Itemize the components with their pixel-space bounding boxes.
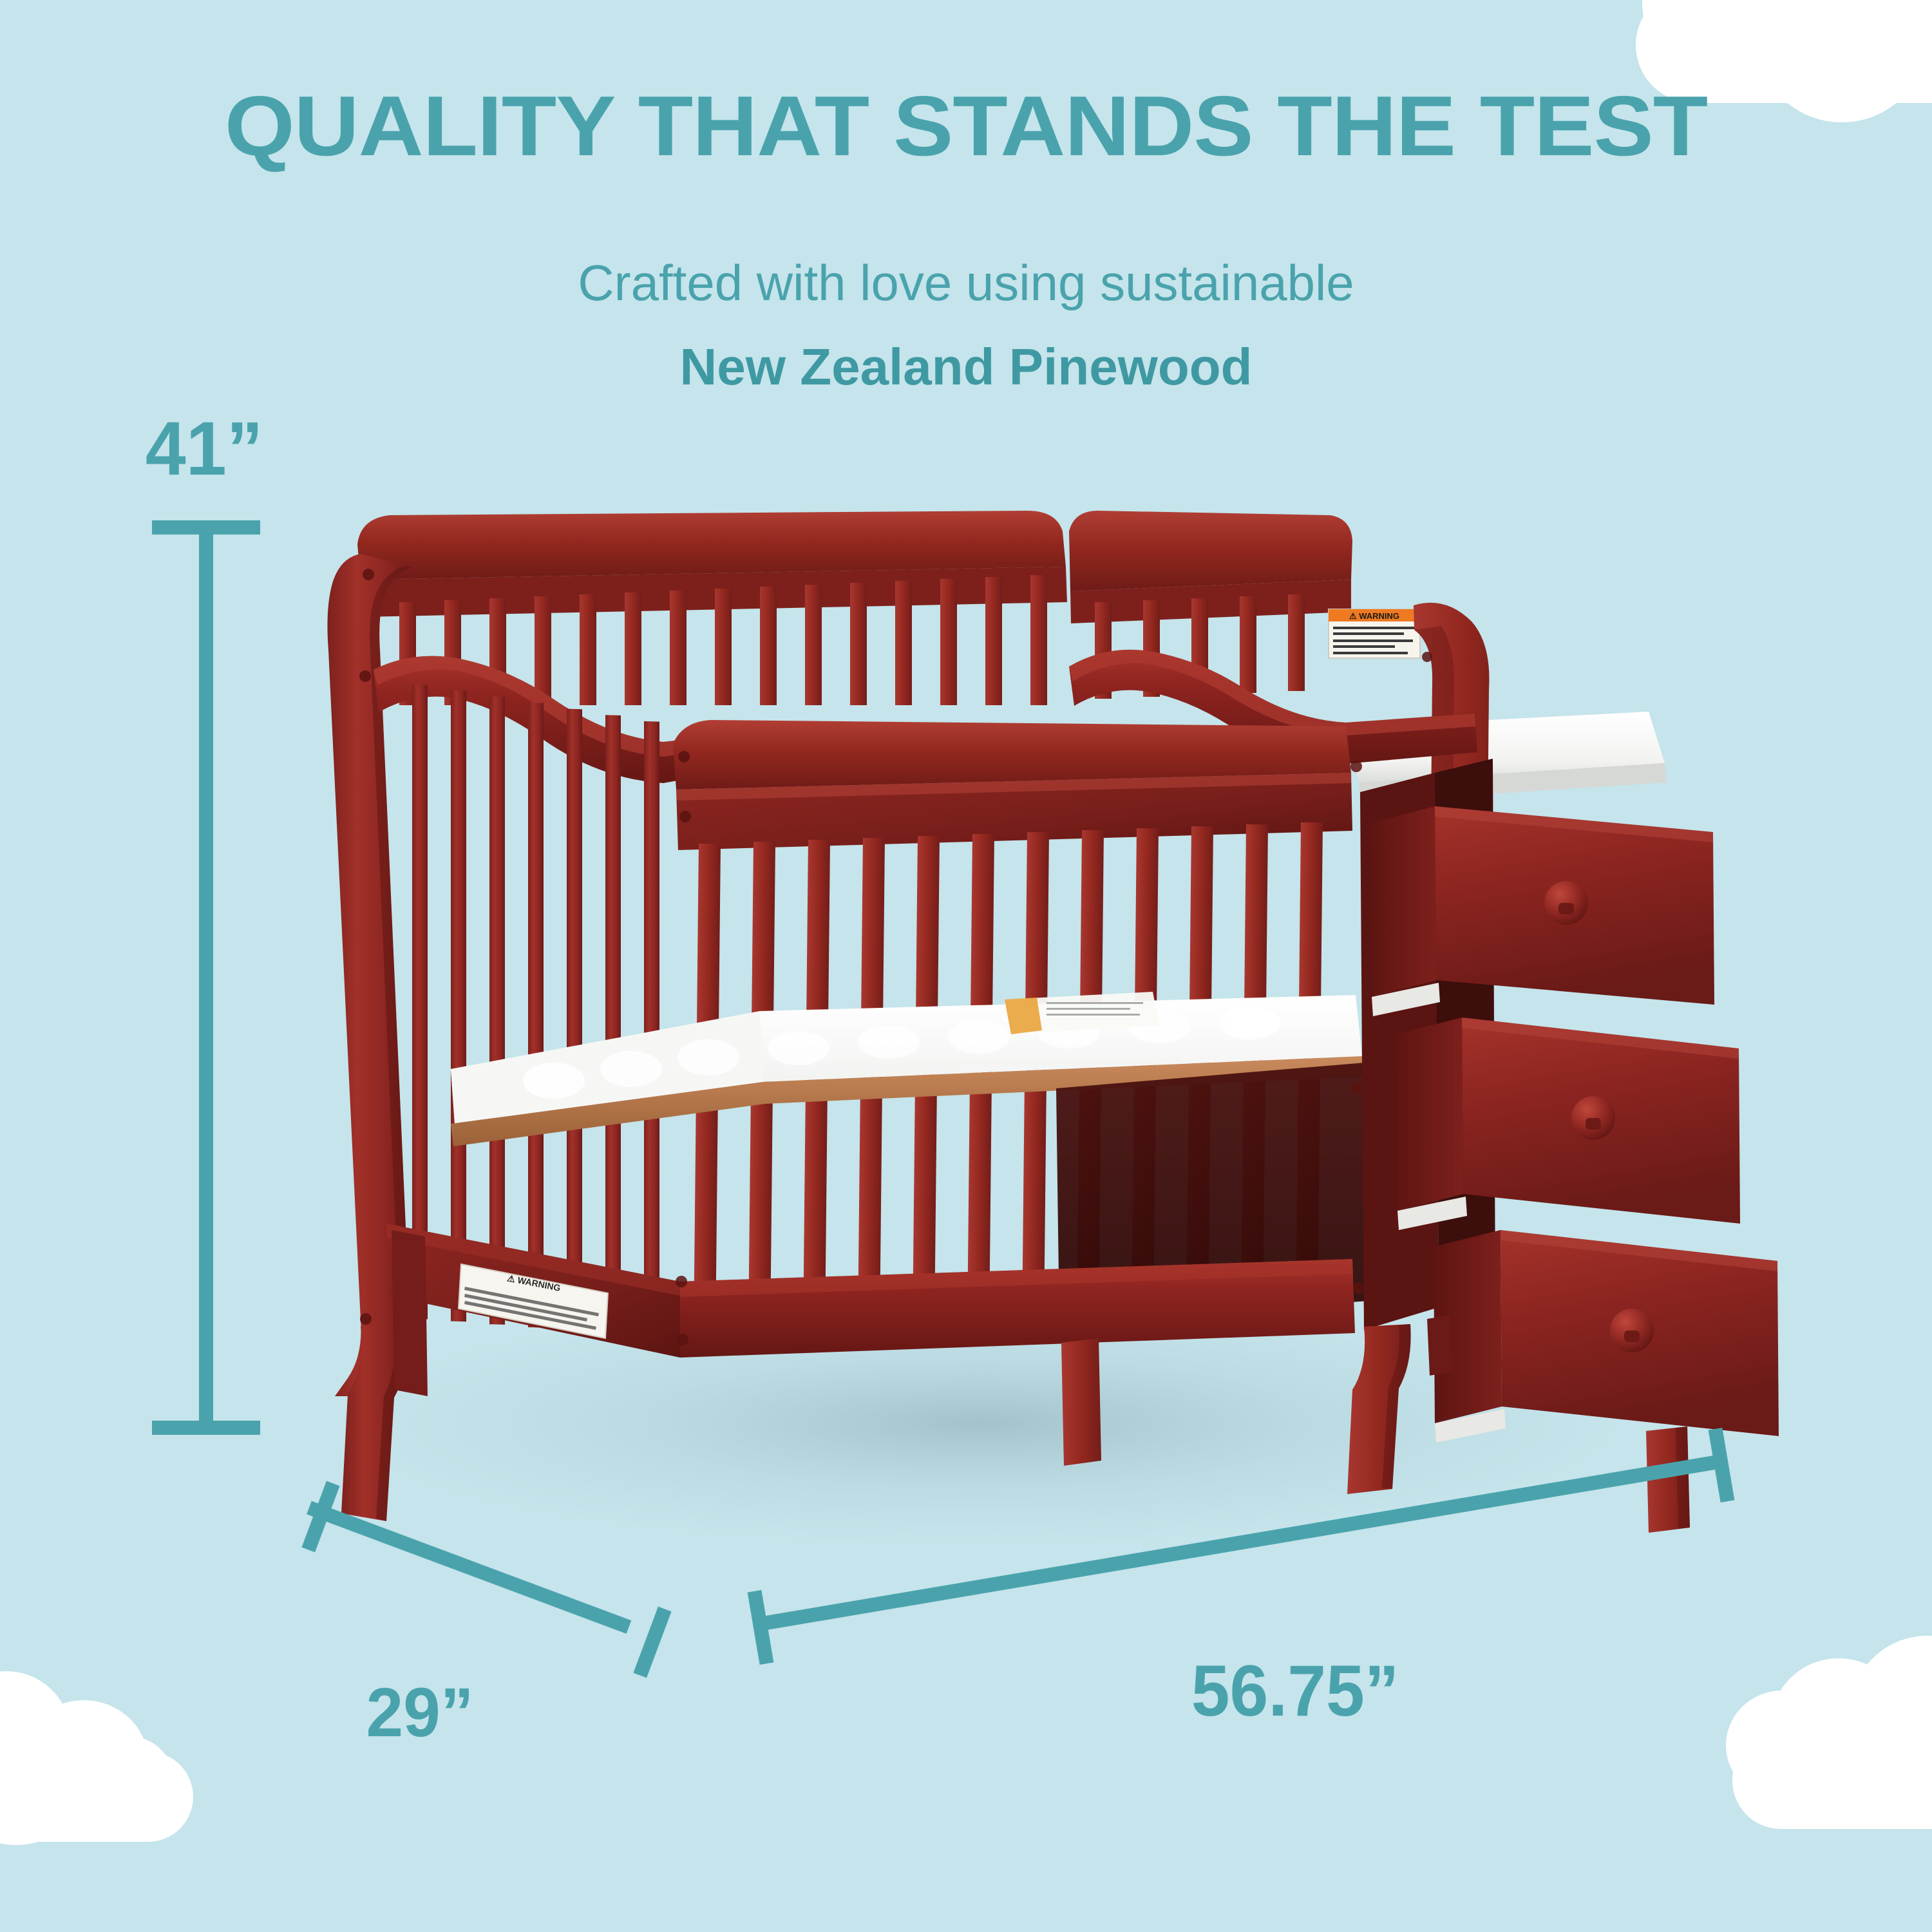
svg-text:⚠ WARNING: ⚠ WARNING [1349, 611, 1399, 621]
product-image-crib: ⚠ WARNING [0, 0, 1932, 1932]
infographic-canvas: QUALITY THAT STANDS THE TEST Crafted wit… [0, 0, 1932, 1932]
height-dimension-label: 41” [146, 411, 263, 487]
changer-warning-label: ⚠ WARNING [1329, 609, 1420, 658]
depth-dimension-label: 29” [366, 1678, 473, 1747]
height-dimension-tick-bottom [152, 1421, 260, 1435]
height-dimension-line [199, 520, 213, 1435]
width-dimension-label: 56.75” [1191, 1655, 1399, 1727]
